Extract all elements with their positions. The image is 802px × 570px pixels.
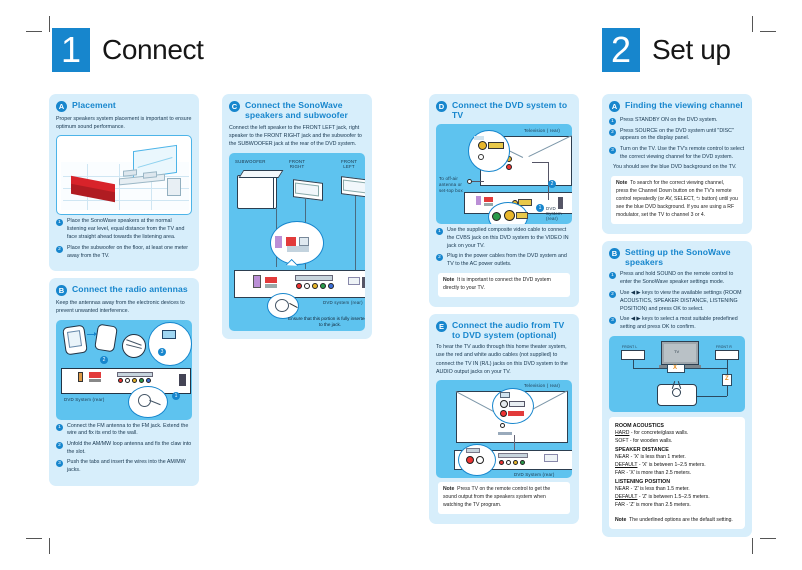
option-name: DEFAULT — [615, 494, 637, 500]
step-item: 1 Press STANDBY ON on the DVD system. — [609, 117, 745, 125]
sonowave-steps: 1 Press and hold SOUND on the remote con… — [609, 271, 745, 332]
crop-mark — [752, 16, 753, 32]
option-desc: - 'X' is less than 1 meter. — [629, 454, 686, 460]
section-badge: C — [229, 101, 240, 112]
section-audio-tv-to-dvd: E Connect the audio from TV to DVD syste… — [429, 314, 579, 524]
note-box: Note It is important to connect the DVD … — [438, 273, 570, 297]
section-connect-speakers: C Connect the SonoWave speakers and subw… — [222, 94, 372, 339]
option-desc: - 'X' is between 1–2.5 meters. — [637, 462, 705, 468]
callout-1: 1 — [172, 392, 180, 400]
section-badge: B — [56, 285, 67, 296]
tv-label: TV — [674, 349, 679, 354]
section-header: C Connect the SonoWave speakers and subw… — [229, 100, 365, 121]
section-badge: A — [56, 101, 67, 112]
option-name: FAR — [615, 502, 625, 508]
page-title: Set up — [652, 34, 731, 66]
section-header: D Connect the DVD system to TV — [436, 100, 572, 121]
step-item: 2 Press SOURCE on the DVD system until "… — [609, 128, 745, 144]
note-text: It is important to connect the DVD syste… — [443, 277, 551, 291]
settings-note: Note The underlined options are the defa… — [615, 517, 739, 525]
section-title: Connect the audio from TV to DVD system … — [452, 320, 572, 341]
step-item: 2 Unfold the AM/MW loop antenna and fix … — [56, 441, 192, 457]
header-connect: 1 Connect — [52, 28, 204, 72]
section-placement: A Placement Proper speakers system place… — [49, 94, 199, 271]
step-number: 1 — [609, 272, 616, 279]
settings-row: FAR - 'Z' is more than 2.5 meters. — [615, 502, 739, 510]
step-text: Press SOURCE on the DVD system until "DI… — [620, 128, 745, 144]
crop-mark — [26, 31, 42, 32]
note-label: Note — [616, 180, 627, 186]
section-title: Connect the DVD system to TV — [452, 100, 572, 121]
settings-row: NEAR - 'Z' is less than 1.5 meter. — [615, 486, 739, 494]
section-title: Connect the radio antennas — [72, 284, 188, 294]
note-label: Note — [443, 277, 454, 283]
section-title: Placement — [72, 100, 116, 110]
step-number-badge: 1 — [52, 28, 90, 72]
section-header: B Setting up the SonoWave speakers — [609, 247, 745, 268]
settings-row: NEAR - 'X' is less than 1 meter. — [615, 454, 739, 462]
column-4: A Finding the viewing channel 1 Press ST… — [602, 94, 752, 537]
step-number-badge: 2 — [602, 28, 640, 72]
settings-heading: LISTENING POSITION — [615, 478, 739, 486]
section-sonowave-setup: B Setting up the SonoWave speakers 1 Pre… — [602, 241, 752, 538]
crop-mark — [49, 16, 50, 32]
viewing-channel-steps: 1 Press STANDBY ON on the DVD system. 2 … — [609, 117, 745, 172]
step-number: 2 — [56, 246, 63, 253]
crop-mark — [49, 538, 50, 554]
callout-circle-3 — [148, 322, 192, 366]
label-antenna-source: To off-air antenna or set-top box — [439, 176, 463, 194]
step-item: 2 Plug in the power cables from the DVD … — [436, 253, 572, 269]
option-name: NEAR — [615, 454, 629, 460]
section-intro: To hear the TV audio through this home t… — [436, 343, 572, 376]
note-text: To search for the correct viewing channe… — [616, 180, 738, 218]
step-text: Turn on the TV. Use the TV's remote cont… — [620, 146, 745, 162]
step-item: 1 Use the supplied composite video cable… — [436, 227, 572, 251]
option-desc: - 'X' is more than 2.5 meters. — [625, 470, 691, 476]
figure-caption: DVD system (rear) — [323, 300, 363, 305]
option-name: HARD — [615, 430, 629, 436]
step-number: 2 — [609, 129, 616, 136]
crop-mark — [26, 538, 42, 539]
label-television: Television ( rear) — [524, 383, 560, 388]
step-item: 2 Place the subwoofer on the floor, at l… — [56, 245, 192, 261]
section-header: A Finding the viewing channel — [609, 100, 745, 112]
step-number: 1 — [609, 118, 616, 125]
note-label: Note — [443, 486, 454, 492]
figure-note: Ensure that this portion is fully insert… — [287, 316, 365, 328]
option-desc: - for concrete/glass walls. — [629, 430, 688, 436]
section-badge: D — [436, 101, 447, 112]
option-name: DEFAULT — [615, 462, 637, 468]
note-label: Note — [615, 517, 626, 523]
step-text: Push the tabs and insert the wires into … — [67, 459, 192, 475]
settings-heading: SPEAKER DISTANCE — [615, 446, 739, 454]
section-title: Finding the viewing channel — [625, 100, 743, 110]
column-2: C Connect the SonoWave speakers and subw… — [222, 94, 372, 339]
section-header: A Placement — [56, 100, 192, 112]
note-box: Note Press TV on the remote control to g… — [438, 482, 570, 514]
note-text: The underlined options are the default s… — [629, 517, 733, 523]
callout-2: 2 — [100, 356, 108, 364]
right-speaker — [167, 178, 181, 196]
section-intro: Connect the left speaker to the FRONT LE… — [229, 124, 365, 149]
step-item: 3 Push the tabs and insert the wires int… — [56, 459, 192, 475]
step-number: 2 — [436, 254, 443, 261]
step-item: 1 Place the SonoWave speakers at the nor… — [56, 218, 192, 242]
step-text: Use ◀ ▶ keys to select a most suitable p… — [620, 316, 745, 332]
settings-row: DEFAULT - 'X' is between 1–2.5 meters. — [615, 462, 739, 470]
column-3: D Connect the DVD system to TV Televisio… — [429, 94, 579, 524]
page-title: Connect — [102, 34, 204, 66]
step-item: 1 Connect the FM antenna to the FM jack.… — [56, 423, 192, 439]
step-item: 3 Use ◀ ▶ keys to select a most suitable… — [609, 316, 745, 332]
section-viewing-channel: A Finding the viewing channel 1 Press ST… — [602, 94, 752, 234]
option-name: NEAR — [615, 486, 629, 492]
section-badge: A — [609, 101, 620, 112]
crop-mark — [760, 538, 776, 539]
section-dvd-to-tv: D Connect the DVD system to TV Televisio… — [429, 94, 579, 307]
listener-head — [672, 388, 681, 397]
callout-2: 2 — [548, 180, 556, 188]
step-text: Connect the FM antenna to the FM jack. E… — [67, 423, 192, 439]
dvd-tv-figure: Television ( rear) To off-air antenna or… — [436, 124, 572, 224]
option-desc: - 'Z' is less than 1.5 meter. — [629, 486, 690, 492]
option-desc: - 'Z' is between 1.5–2.5 meters. — [637, 494, 709, 500]
figure-caption: DVD System (rear) — [514, 472, 554, 477]
column-1: A Placement Proper speakers system place… — [49, 94, 199, 486]
step-item: 3 Turn on the TV. Use the TV's remote co… — [609, 146, 745, 162]
step-number: 3 — [609, 147, 616, 154]
section-intro: Keep the antennas away from the electron… — [56, 299, 192, 315]
subwoofer-unit — [237, 175, 277, 209]
placement-steps: 1 Place the SonoWave speakers at the nor… — [56, 218, 192, 260]
section-header: E Connect the audio from TV to DVD syste… — [436, 320, 572, 341]
option-desc: - 'Z' is more than 2.5 meters. — [625, 502, 691, 508]
note-text: Press TV on the remote control to get th… — [443, 486, 550, 508]
label-subwoofer: SUBWOOFER — [235, 159, 266, 164]
section-header: B Connect the radio antennas — [56, 284, 192, 296]
settings-row: HARD - for concrete/glass walls. — [615, 430, 739, 438]
settings-row: SOFT - for wooden walls. — [615, 438, 739, 446]
section-title: Connect the SonoWave speakers and subwoo… — [245, 100, 365, 121]
option-name: SOFT — [615, 438, 629, 444]
callout-1: 1 — [536, 204, 544, 212]
section-badge: E — [436, 321, 447, 332]
settings-reference-box: ROOM ACOUSTICS HARD - for concrete/glass… — [609, 417, 745, 530]
step-number: 2 — [609, 291, 616, 298]
settings-row: FAR - 'X' is more than 2.5 meters. — [615, 470, 739, 478]
header-setup: 2 Set up — [602, 28, 731, 72]
viewing-channel-tail: You should see the blue DVD background o… — [613, 164, 745, 172]
step-text: Place the subwoofer on the floor, at lea… — [67, 245, 192, 261]
left-speaker-icon — [621, 350, 645, 360]
step-item: 2 Use ◀ ▶ keys to view the available set… — [609, 290, 745, 314]
antenna-steps: 1 Connect the FM antenna to the FM jack.… — [56, 423, 192, 476]
figure-caption: DVD System (rear) — [64, 397, 104, 402]
step-number: 1 — [56, 424, 63, 431]
crop-mark — [760, 31, 776, 32]
step-text: Press STANDBY ON on the DVD system. — [620, 117, 718, 125]
step-text: Place the SonoWave speakers at the norma… — [67, 218, 192, 242]
step-text: Use ◀ ▶ keys to view the available setti… — [620, 290, 745, 314]
step-number: 2 — [56, 442, 63, 449]
step-text: Unfold the AM/MW loop antenna and fix th… — [67, 441, 192, 457]
label-front-right: FRONT RIGHT — [289, 159, 305, 169]
crop-mark — [752, 538, 753, 554]
dvd-tv-steps: 1 Use the supplied composite video cable… — [436, 227, 572, 269]
settings-heading: ROOM ACOUSTICS — [615, 422, 739, 430]
callout-3: 3 — [158, 348, 166, 356]
settings-row: DEFAULT - 'Z' is between 1.5–2.5 meters. — [615, 494, 739, 502]
guide-page: 1 Connect 2 Set up A Placement Proper sp… — [0, 0, 802, 570]
note-box: Note To search for the correct viewing c… — [611, 176, 743, 223]
section-title: Setting up the SonoWave speakers — [625, 247, 745, 268]
section-badge: B — [609, 248, 620, 259]
antenna-figure: 2 3 DVD System (rear) — [56, 320, 192, 420]
listening-position-diagram: TV FRONT L FRONT R X Z — [609, 336, 745, 412]
z-marker: Z — [725, 376, 729, 382]
step-number: 3 — [609, 317, 616, 324]
figure-caption: DVD System (rear) — [546, 206, 572, 221]
speaker-connection-figure: SUBWOOFER FRONT RIGHT FRONT LEFT — [229, 153, 365, 331]
step-number: 1 — [56, 219, 63, 226]
step-text: Press and hold SOUND on the remote contr… — [620, 271, 745, 287]
section-intro: Proper speakers system placement is impo… — [56, 115, 192, 131]
placement-figure — [56, 135, 192, 215]
step-number: 1 — [436, 228, 443, 235]
option-desc: - for wooden walls. — [629, 438, 673, 444]
step-number: 3 — [56, 460, 63, 467]
label-front-left: FRONT LEFT — [341, 159, 357, 169]
step-text: Use the supplied composite video cable t… — [447, 227, 572, 251]
option-name: FAR — [615, 470, 625, 476]
right-speaker-icon — [715, 350, 739, 360]
section-radio-antennas: B Connect the radio antennas Keep the an… — [49, 278, 199, 486]
label-television: Television ( rear) — [524, 128, 560, 133]
audio-connection-figure: Television ( rear) — [436, 380, 572, 478]
step-item: 1 Press and hold SOUND on the remote con… — [609, 271, 745, 287]
x-marker: X — [673, 365, 677, 371]
step-text: Plug in the power cables from the DVD sy… — [447, 253, 572, 269]
